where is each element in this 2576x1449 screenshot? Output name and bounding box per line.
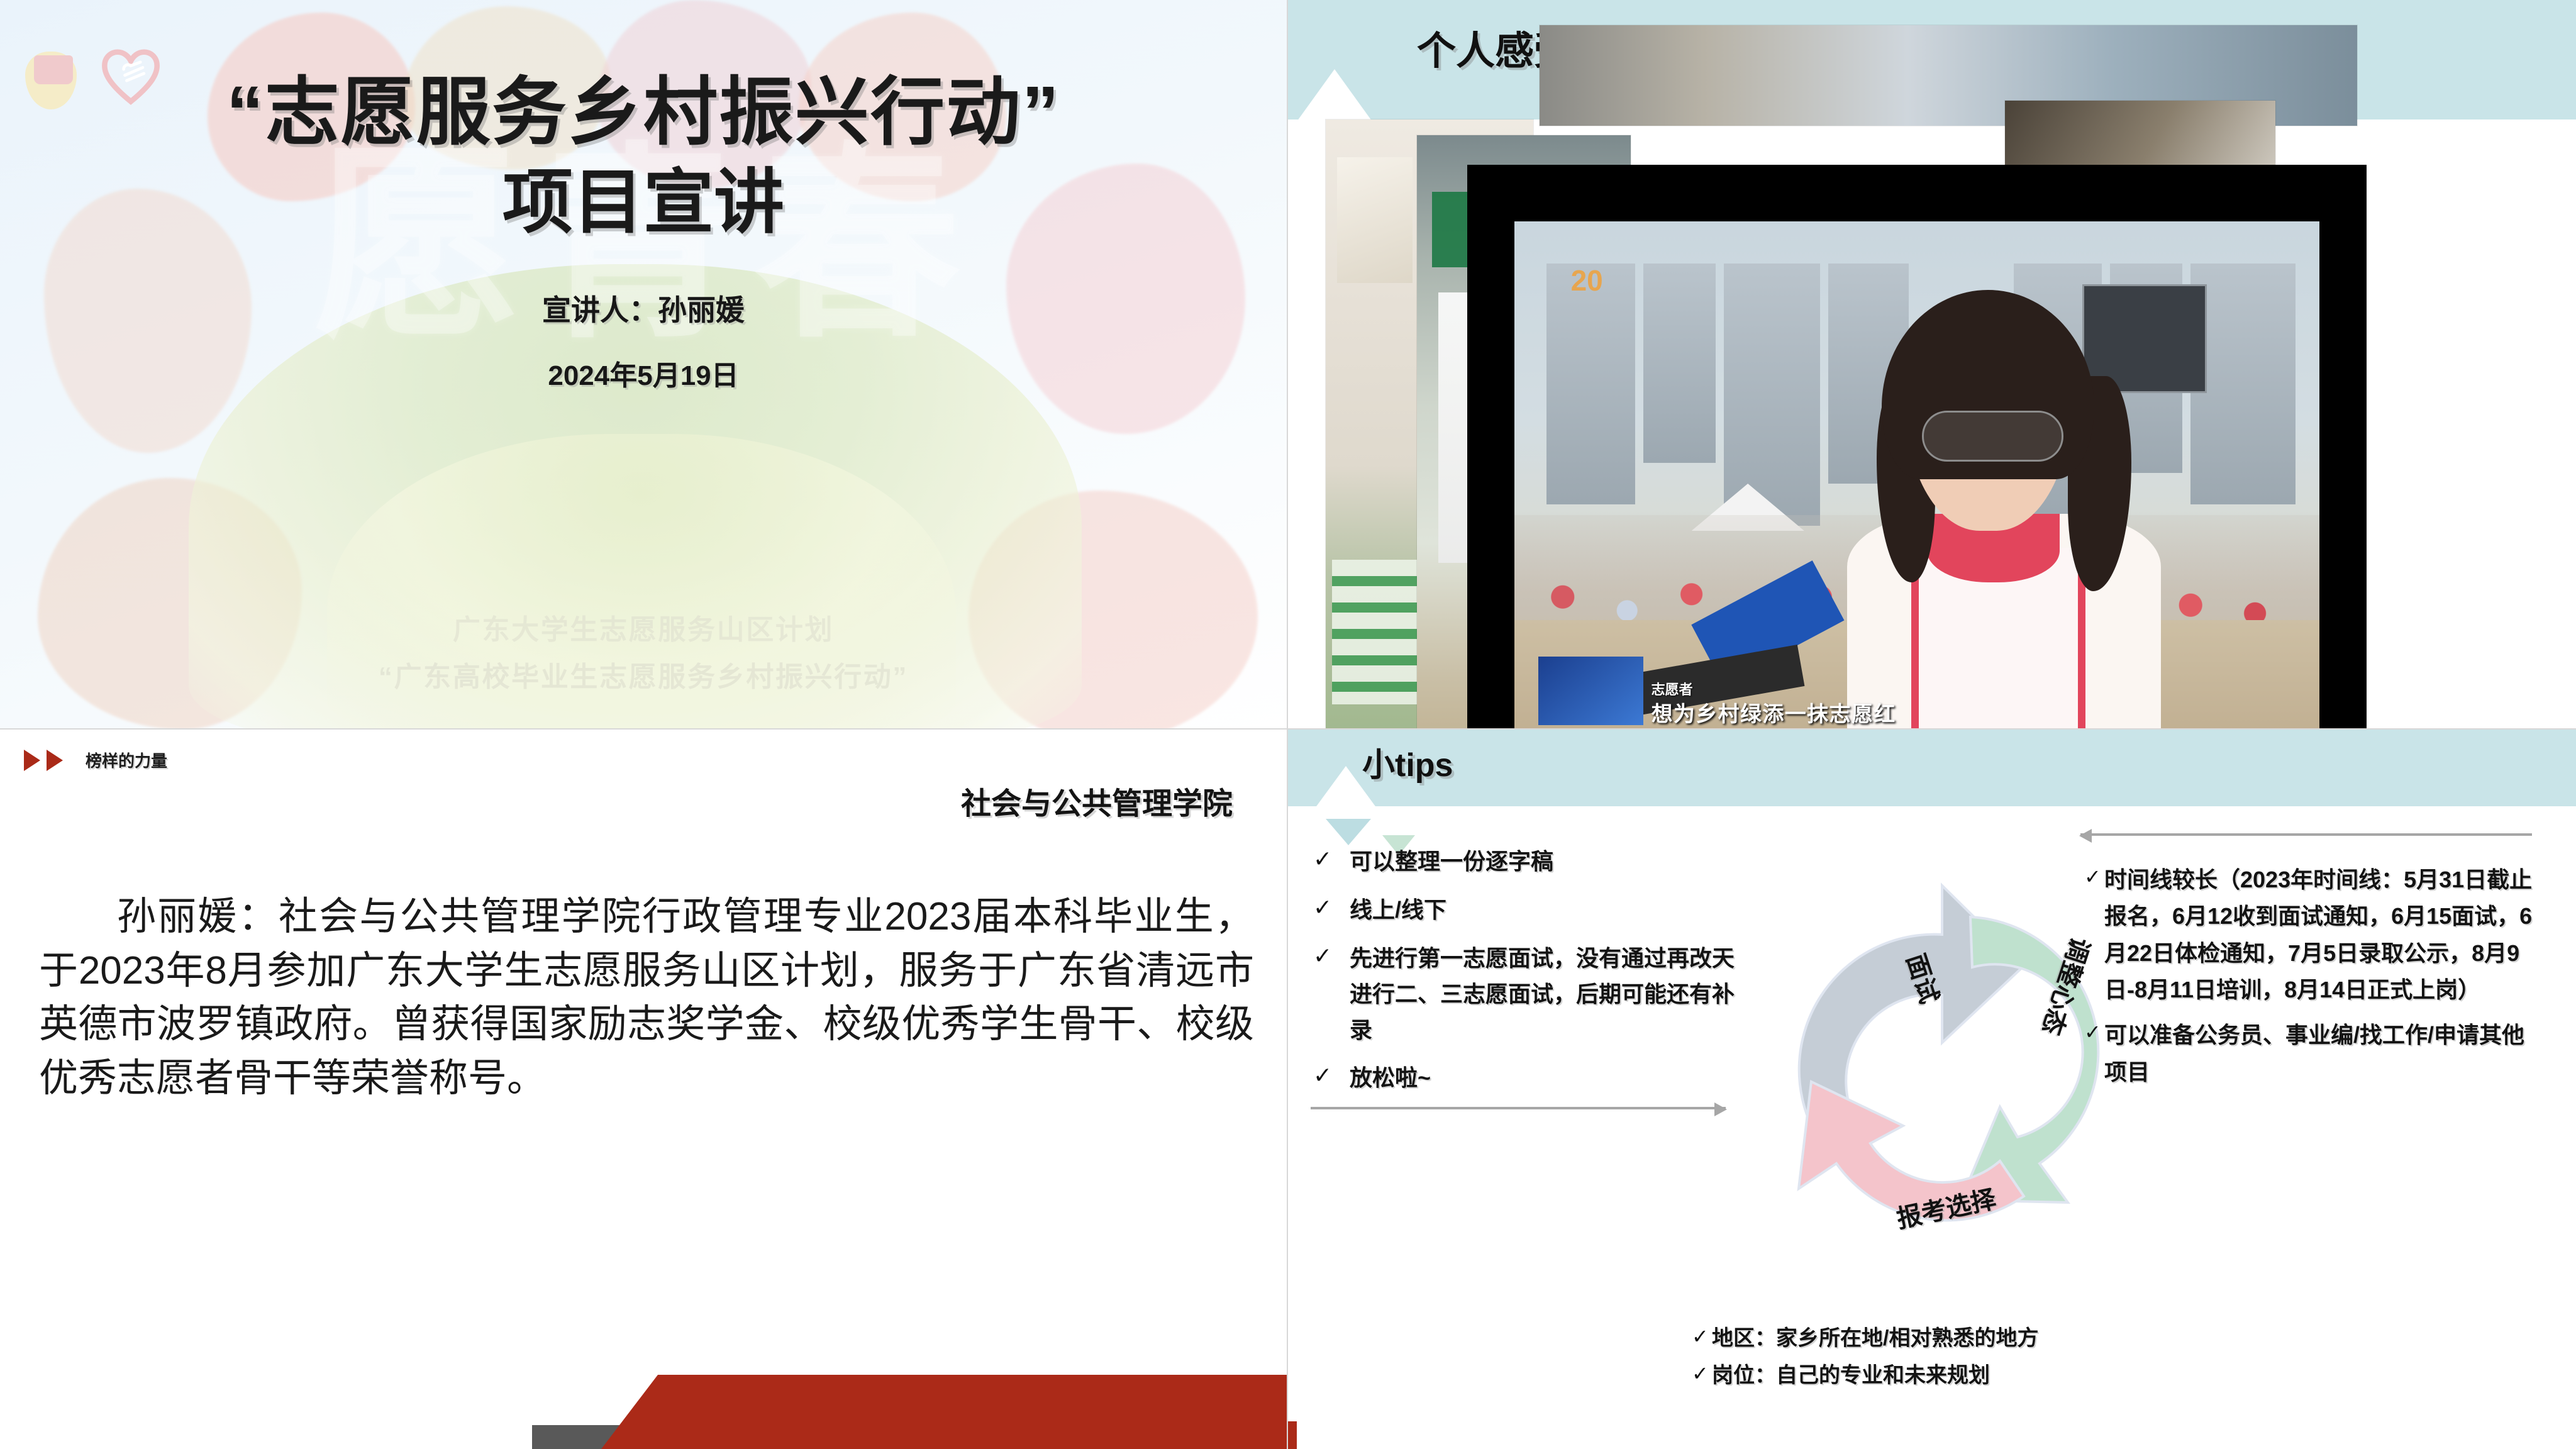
lower-third-tag: 志愿者: [1652, 679, 1693, 699]
check-icon: ✓: [1313, 892, 1350, 923]
slide-deck-grid: 愿青春 “志愿服务乡村振兴行动” 项目宣讲 宣讲人：孙丽媛 2024年5月19日…: [0, 0, 2576, 1449]
red-decor-bar: [601, 1375, 1287, 1449]
slide-thumbnail-role-model[interactable]: 榜样的力量 社会与公共管理学院 孙丽媛：社会与公共管理学院行政管理专业2023届…: [0, 730, 1288, 1449]
tip-text: 先进行第一志愿面试，没有通过再改天进行二、三志愿面试，后期可能还有补录: [1350, 941, 1753, 1048]
check-icon: ✓: [1692, 1358, 1712, 1389]
speaker-label: 宣讲人：孙丽媛: [0, 287, 1287, 329]
list-item: ✓ 可以整理一份逐字稿: [1313, 844, 1753, 880]
list-item: ✓ 先进行第一志愿面试，没有通过再改天进行二、三志愿面试，后期可能还有补录: [1313, 941, 1753, 1048]
bottom-tips-list: ✓ 地区：家乡所在地/相对熟悉的地方 ✓ 岗位：自己的专业和未来规划: [1692, 1321, 2258, 1395]
arrow-line-left: [2080, 833, 2532, 836]
slide-title-line-1: “志愿服务乡村振兴行动”: [0, 69, 1287, 157]
video-player-frame[interactable]: 20 志愿者 想为乡村绿添一抹志愿红: [1467, 165, 2367, 730]
list-item: ✓ 地区：家乡所在地/相对熟悉的地方: [1692, 1321, 2258, 1352]
arrow-line-right: [1311, 1107, 1726, 1109]
tips-title: 小tips: [1362, 738, 1453, 786]
right-tips-list: ✓ 时间线较长（2023年时间线：5月31日截止报名，6月12收到面试通知，6月…: [2084, 862, 2537, 1099]
check-icon: ✓: [1313, 1060, 1350, 1091]
check-icon: ✓: [2084, 1017, 2104, 1047]
ghost-subtitle-1: 广东大学生志愿服务山区计划: [0, 607, 1287, 647]
slide-title-line-2: 项目宣讲: [0, 157, 1287, 248]
tips-header-band: [1288, 730, 2576, 806]
biography-paragraph: 孙丽媛：社会与公共管理学院行政管理专业2023届本科毕业生，于2023年8月参加…: [39, 890, 1254, 1105]
play-triangle-icon-1: [24, 750, 40, 771]
tip-text: 可以整理一份逐字稿: [1350, 844, 1553, 880]
title-block: “志愿服务乡村振兴行动” 项目宣讲 宣讲人：孙丽媛 2024年5月19日: [0, 69, 1287, 393]
breadcrumb: 榜样的力量: [24, 748, 167, 772]
list-item: ✓ 岗位：自己的专业和未来规划: [1692, 1358, 2258, 1389]
interviewee: [1868, 316, 2134, 730]
channel-logo: 20: [1571, 264, 1700, 326]
check-icon: ✓: [1313, 941, 1350, 972]
ghost-subtitle-2: “广东高校毕业生志愿服务乡村振兴行动”: [0, 654, 1287, 694]
slide-thumbnail-tips[interactable]: 小tips ✓ 可以整理一份逐字稿 ✓ 线上/线下 ✓ 先进行第一志愿面试，没有…: [1288, 730, 2576, 1449]
date-label: 2024年5月19日: [0, 353, 1287, 393]
check-icon: ✓: [2084, 862, 2104, 892]
station-badge: [1538, 657, 1643, 724]
check-icon: ✓: [1313, 844, 1350, 875]
tip-text: 放松啦~: [1350, 1060, 1431, 1096]
tip-text: 线上/线下: [1350, 892, 1446, 928]
section-tag: 榜样的力量: [86, 748, 167, 772]
tip-text: 时间线较长（2023年时间线：5月31日截止报名，6月12收到面试通知，6月15…: [2104, 862, 2537, 1008]
tip-text: 地区：家乡所在地/相对熟悉的地方: [1712, 1321, 2038, 1352]
video-still: 20 志愿者 想为乡村绿添一抹志愿红: [1514, 221, 2319, 730]
list-item: ✓ 时间线较长（2023年时间线：5月31日截止报名，6月12收到面试通知，6月…: [2084, 862, 2537, 1008]
tip-text: 可以准备公务员、事业编/找工作/申请其他项目: [2104, 1017, 2537, 1091]
slide-thumbnail-title[interactable]: 愿青春 “志愿服务乡村振兴行动” 项目宣讲 宣讲人：孙丽媛 2024年5月19日…: [0, 0, 1288, 730]
list-item: ✓ 可以准备公务员、事业编/找工作/申请其他项目: [2084, 1017, 2537, 1091]
list-item: ✓ 线上/线下: [1313, 892, 1753, 928]
play-triangle-icon-2: [47, 750, 63, 771]
decor-triangle-teal-icon: [1326, 819, 1371, 845]
lower-third-title: 想为乡村绿添一抹志愿红: [1652, 697, 1896, 728]
red-corner-accent: [1288, 1421, 1297, 1449]
slide-thumbnail-personal-feelings[interactable]: 个人感受 20: [1288, 0, 2576, 730]
left-tips-list: ✓ 可以整理一份逐字稿 ✓ 线上/线下 ✓ 先进行第一志愿面试，没有通过再改天进…: [1313, 844, 1753, 1109]
tip-text: 岗位：自己的专业和未来规划: [1712, 1358, 1990, 1389]
college-name: 社会与公共管理学院: [961, 779, 1233, 823]
list-item: ✓ 放松啦~: [1313, 1060, 1753, 1096]
header-notch-shape: [1296, 69, 1374, 123]
check-icon: ✓: [1692, 1321, 1712, 1352]
